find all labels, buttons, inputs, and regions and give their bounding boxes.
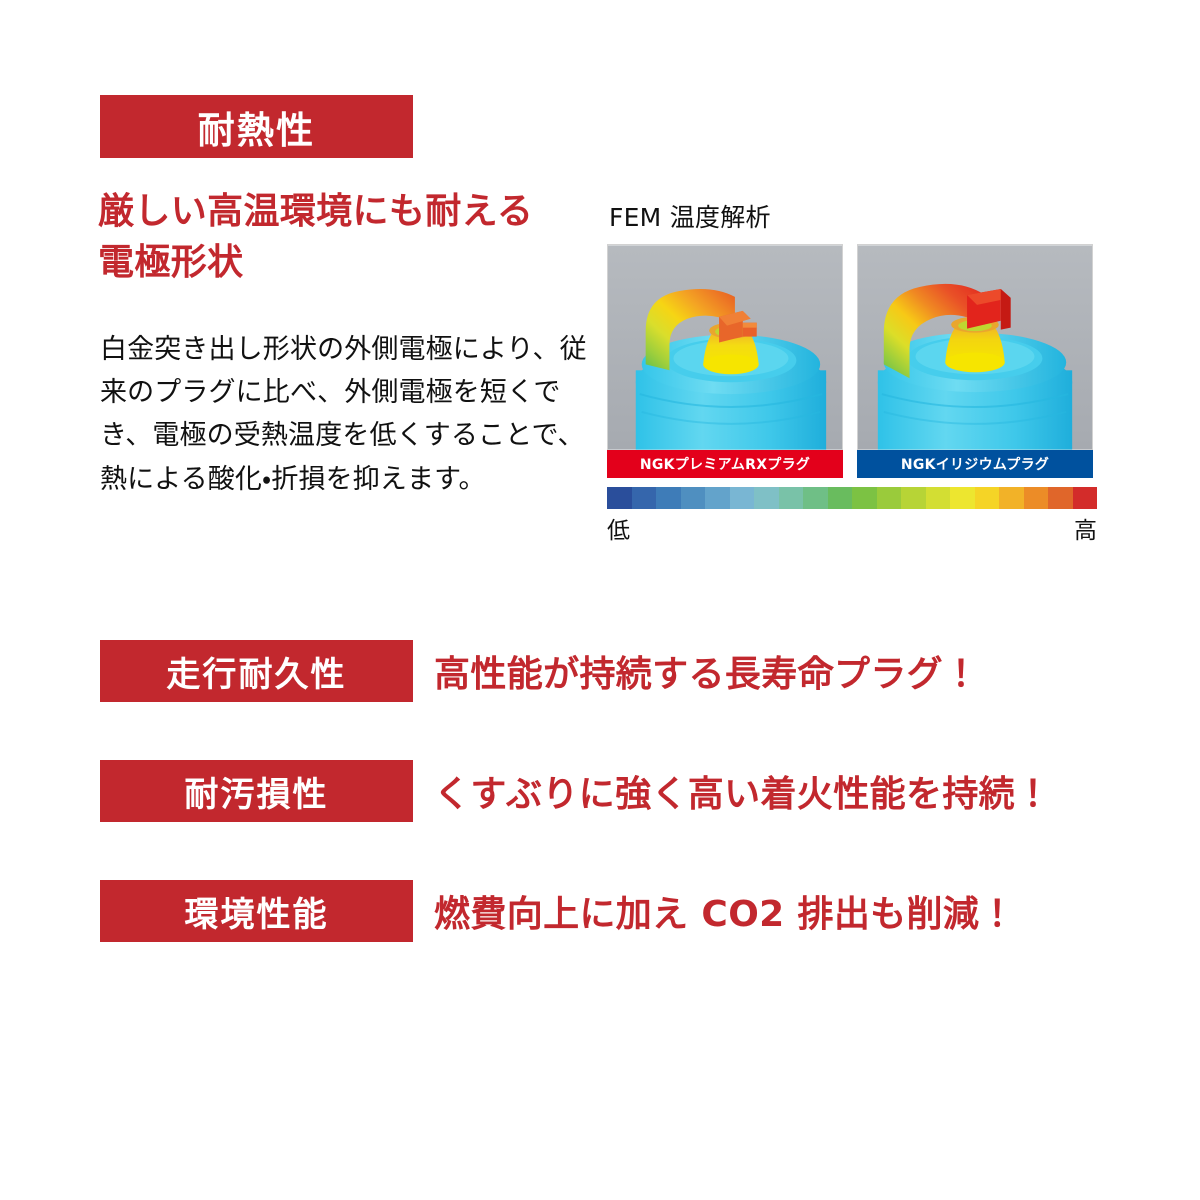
scale-band-0 (607, 487, 632, 509)
scale-band-17 (1024, 487, 1049, 509)
scale-band-10 (852, 487, 877, 509)
feature-row-1: 耐汚損性くすぶりに強く高い着火性能を持続！ (0, 760, 1200, 822)
scale-band-12 (901, 487, 926, 509)
lede-line-2: 電極形状 (98, 237, 618, 288)
scale-band-14 (950, 487, 975, 509)
fem-caption-premium-rx: NGKプレミアムRXプラグ (607, 450, 843, 478)
feature-text-0: 高性能が持続する長寿命プラグ！ (434, 645, 979, 697)
scale-band-9 (828, 487, 853, 509)
section-heat-badge: 耐熱性 (100, 95, 413, 158)
fem-figure-title: FEM 温度解析 (609, 198, 1099, 234)
scale-label-high: 高 (1074, 511, 1097, 545)
section-heat-lede: 厳しい高温環境にも耐える 電極形状 (98, 186, 618, 288)
section-heat-resistance: 耐熱性 厳しい高温環境にも耐える 電極形状 白金突き出し形状の外側電極により、従… (0, 0, 1200, 600)
scale-band-8 (803, 487, 828, 509)
scale-label-low: 低 (607, 511, 630, 545)
feature-badge-2: 環境性能 (100, 880, 413, 942)
scale-band-16 (999, 487, 1024, 509)
scale-band-13 (926, 487, 951, 509)
scale-band-5 (730, 487, 755, 509)
scale-band-6 (754, 487, 779, 509)
feature-badge-1: 耐汚損性 (100, 760, 413, 822)
scale-band-18 (1048, 487, 1073, 509)
feature-row-0: 走行耐久性高性能が持続する長寿命プラグ！ (0, 640, 1200, 702)
fem-card-premium-rx: NGKプレミアムRXプラグ (607, 244, 843, 478)
scale-band-19 (1073, 487, 1098, 509)
feature-text-1: くすぶりに強く高い着火性能を持続！ (434, 765, 1051, 817)
fem-thermal-image-iridium (857, 244, 1093, 450)
fem-color-scale: 低 高 (607, 487, 1099, 545)
fem-image-pair: NGKプレミアムRXプラグ (607, 244, 1099, 478)
page-root: 耐熱性 厳しい高温環境にも耐える 電極形状 白金突き出し形状の外側電極により、従… (0, 0, 1200, 1200)
scale-band-15 (975, 487, 1000, 509)
scale-band-3 (681, 487, 706, 509)
body-paragraph: 白金突き出し形状の外側電極により、従来のプラグに比べ、外側電極を短くでき、電極の… (100, 328, 600, 501)
fem-color-scale-bar (607, 487, 1097, 509)
scale-band-4 (705, 487, 730, 509)
section-heat-body: 白金突き出し形状の外側電極により、従来のプラグに比べ、外側電極を短くでき、電極の… (100, 328, 600, 501)
feature-row-2: 環境性能燃費向上に加え CO2 排出も削減！ (0, 880, 1200, 942)
scale-band-11 (877, 487, 902, 509)
fem-thermal-image-premium-rx (607, 244, 843, 450)
scale-band-1 (632, 487, 657, 509)
feature-text-2: 燃費向上に加え CO2 排出も削減！ (434, 885, 1016, 937)
scale-band-7 (779, 487, 804, 509)
fem-card-iridium: NGKイリジウムプラグ (857, 244, 1093, 478)
fem-caption-iridium: NGKイリジウムプラグ (857, 450, 1093, 478)
feature-badge-0: 走行耐久性 (100, 640, 413, 702)
scale-band-2 (656, 487, 681, 509)
fem-figure: FEM 温度解析 (607, 198, 1099, 545)
lede-line-1: 厳しい高温環境にも耐える (98, 186, 618, 237)
feature-rows: 走行耐久性高性能が持続する長寿命プラグ！耐汚損性くすぶりに強く高い着火性能を持続… (0, 640, 1200, 1000)
fem-color-scale-labels: 低 高 (607, 511, 1097, 545)
